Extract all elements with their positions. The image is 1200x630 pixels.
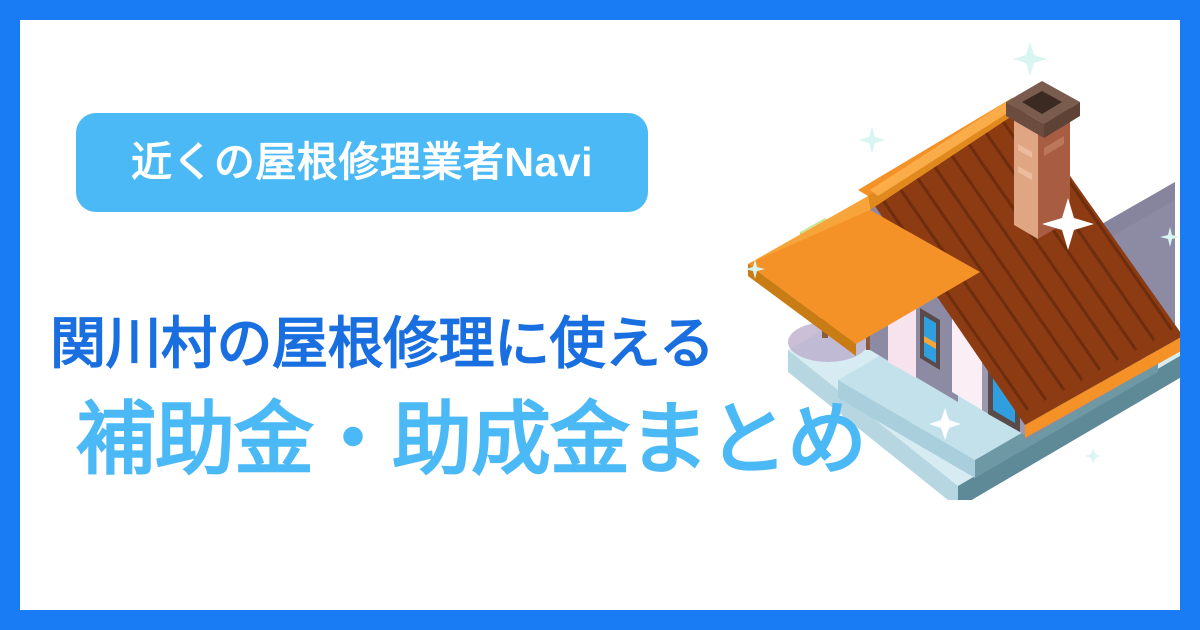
window-front-upper xyxy=(988,272,1020,354)
brand-badge: 近くの屋根修理業者Navi xyxy=(76,113,648,212)
window-right-b xyxy=(1105,316,1126,380)
sparkle-top-right xyxy=(1013,42,1047,76)
chimney xyxy=(1006,81,1080,239)
brand-badge-label: 近くの屋根修理業者Navi xyxy=(131,142,593,183)
sparkle-top-left xyxy=(858,126,886,154)
sparkle-mid-left xyxy=(745,259,765,279)
house-main-body xyxy=(970,182,1175,440)
window-front-lower xyxy=(988,350,1020,432)
window-right-a xyxy=(1065,338,1086,402)
headline-block: 関川村の屋根修理に使える 補助金・助成金まとめ xyxy=(50,315,950,480)
wood-plank-stack xyxy=(984,236,1016,320)
balcony xyxy=(846,201,972,301)
headline-line-1: 関川村の屋根修理に使える xyxy=(50,315,950,374)
card-inner-canvas: 近くの屋根修理業者Navi 関川村の屋根修理に使える 補助金・助成金まとめ xyxy=(20,20,1180,610)
sparkle-right-edge xyxy=(1160,227,1180,247)
sparkle-base-small xyxy=(1085,448,1101,464)
headline-line-2: 補助金・助成金まとめ xyxy=(50,400,950,480)
window-left-upper xyxy=(920,220,940,282)
sparkle-roof xyxy=(1042,198,1094,250)
ogp-card: 近くの屋根修理業者Navi 関川村の屋根修理に使える 補助金・助成金まとめ xyxy=(0,0,1200,630)
